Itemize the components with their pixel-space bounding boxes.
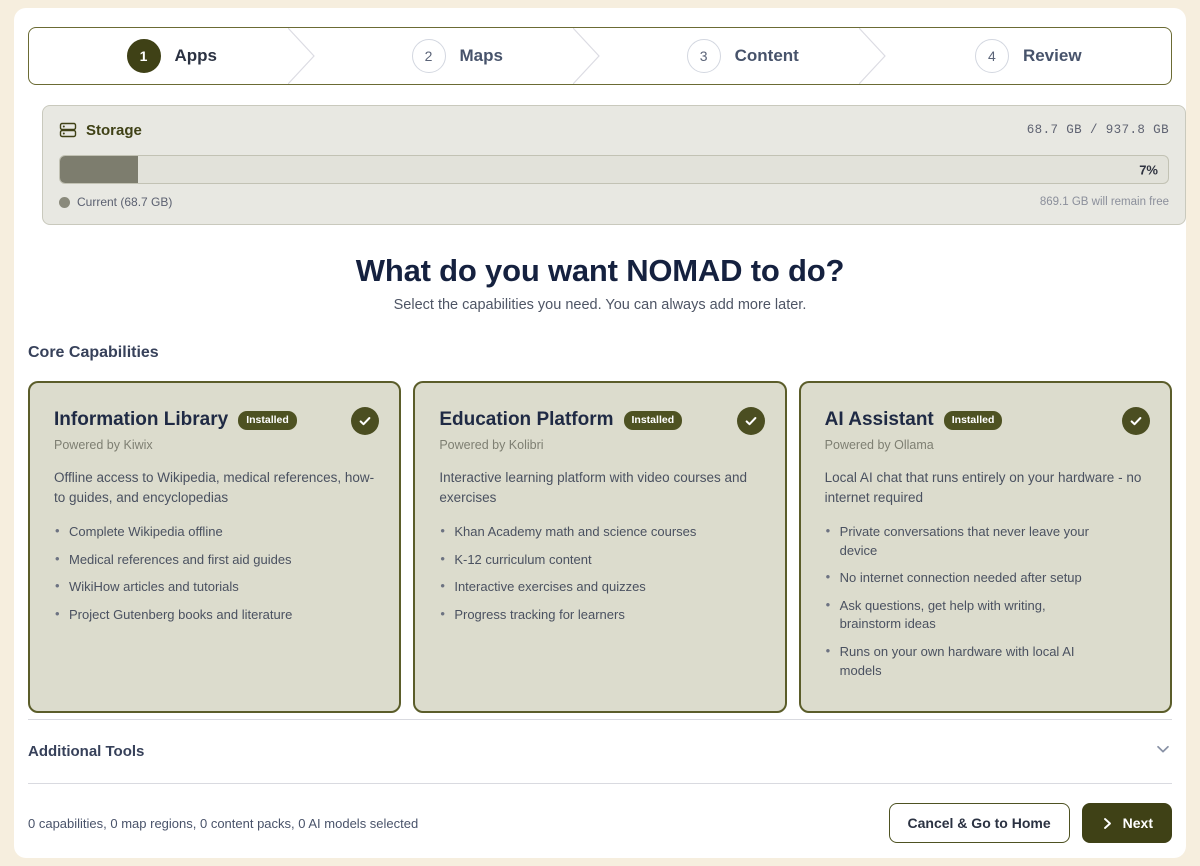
server-icon [59,121,77,139]
page-title: What do you want NOMAD to do? [14,253,1186,289]
list-item: Runs on your own hardware with local AI … [825,643,1110,680]
section-title-core-capabilities: Core Capabilities [28,344,159,362]
selected-check-icon [1122,407,1150,435]
step-maps-label: Maps [460,46,503,66]
step-maps-number: 2 [412,39,446,73]
list-item: Khan Academy math and science courses [439,523,724,542]
list-item: Progress tracking for learners [439,606,724,625]
storage-title: Storage [86,122,142,139]
card-powered-by: Powered by Ollama [825,438,1146,452]
step-review[interactable]: 4 Review [886,28,1172,84]
next-button-label: Next [1123,815,1153,831]
additional-tools-label: Additional Tools [28,743,144,760]
list-item: Private conversations that never leave y… [825,523,1110,560]
chevron-down-icon[interactable] [1154,740,1172,763]
list-item: Ask questions, get help with writing, br… [825,597,1110,634]
selection-summary: 0 capabilities, 0 map regions, 0 content… [28,816,418,831]
wizard-window: 1 Apps 2 Maps 3 Content 4 Review [14,8,1186,858]
list-item: Medical references and first aid guides [54,551,339,570]
legend-swatch-current [59,197,70,208]
list-item: Project Gutenberg books and literature [54,606,339,625]
card-feature-list: Private conversations that never leave y… [825,523,1146,680]
step-separator-icon [288,28,316,84]
storage-amount: 68.7 GB / 937.8 GB [1027,123,1169,137]
card-description: Interactive learning platform with video… [439,468,760,507]
list-item: K-12 curriculum content [439,551,724,570]
storage-panel: Storage 68.7 GB / 937.8 GB 7% Current (6… [42,105,1186,225]
card-title: AI Assistant [825,409,934,431]
cancel-button[interactable]: Cancel & Go to Home [889,803,1070,843]
card-header: Education Platform Installed [439,409,760,431]
storage-header: Storage 68.7 GB / 937.8 GB [59,119,1169,141]
wizard-stepper: 1 Apps 2 Maps 3 Content 4 Review [28,27,1172,85]
card-powered-by: Powered by Kiwix [54,438,375,452]
capability-card-education-platform[interactable]: Education Platform Installed Powered by … [413,381,786,713]
selected-check-icon [737,407,765,435]
step-apps-label: Apps [175,46,218,66]
card-description: Local AI chat that runs entirely on your… [825,468,1146,507]
capability-card-grid: Information Library Installed Powered by… [28,381,1172,713]
storage-progress-percent: 7% [1139,162,1158,177]
legend-label-current: Current (68.7 GB) [77,195,172,209]
footer-actions: Cancel & Go to Home Next [889,803,1173,843]
status-badge: Installed [238,411,297,430]
list-item: Interactive exercises and quizzes [439,578,724,597]
step-review-number: 4 [975,39,1009,73]
storage-progress-fill [60,156,138,183]
card-header: Information Library Installed [54,409,375,431]
step-apps-number: 1 [127,39,161,73]
card-description: Offline access to Wikipedia, medical ref… [54,468,375,507]
card-feature-list: Khan Academy math and science courses K-… [439,523,760,624]
card-title: Information Library [54,409,228,431]
step-content-number: 3 [687,39,721,73]
storage-remaining-text: 869.1 GB will remain free [1040,196,1169,208]
list-item: No internet connection needed after setu… [825,569,1110,588]
next-button[interactable]: Next [1082,803,1172,843]
step-maps[interactable]: 2 Maps [315,28,601,84]
card-powered-by: Powered by Kolibri [439,438,760,452]
card-title: Education Platform [439,409,613,431]
step-review-label: Review [1023,46,1082,66]
card-feature-list: Complete Wikipedia offline Medical refer… [54,523,375,624]
divider-below-additional-tools [28,783,1172,784]
capability-card-ai-assistant[interactable]: AI Assistant Installed Powered by Ollama… [799,381,1172,713]
chevron-right-icon [1101,817,1114,830]
card-header: AI Assistant Installed [825,409,1146,431]
page-subtitle: Select the capabilities you need. You ca… [14,297,1186,313]
step-content-label: Content [735,46,799,66]
step-content[interactable]: 3 Content [600,28,886,84]
list-item: WikiHow articles and tutorials [54,578,339,597]
storage-progress-bar: 7% [59,155,1169,184]
step-apps[interactable]: 1 Apps [29,28,315,84]
capability-card-information-library[interactable]: Information Library Installed Powered by… [28,381,401,713]
status-badge: Installed [624,411,683,430]
step-separator-icon [859,28,887,84]
step-separator-icon [573,28,601,84]
additional-tools-accordion[interactable]: Additional Tools [28,719,1172,783]
list-item: Complete Wikipedia offline [54,523,339,542]
footer-bar: 0 capabilities, 0 map regions, 0 content… [28,798,1172,848]
status-badge: Installed [944,411,1003,430]
storage-footer: Current (68.7 GB) 869.1 GB will remain f… [59,195,1169,209]
